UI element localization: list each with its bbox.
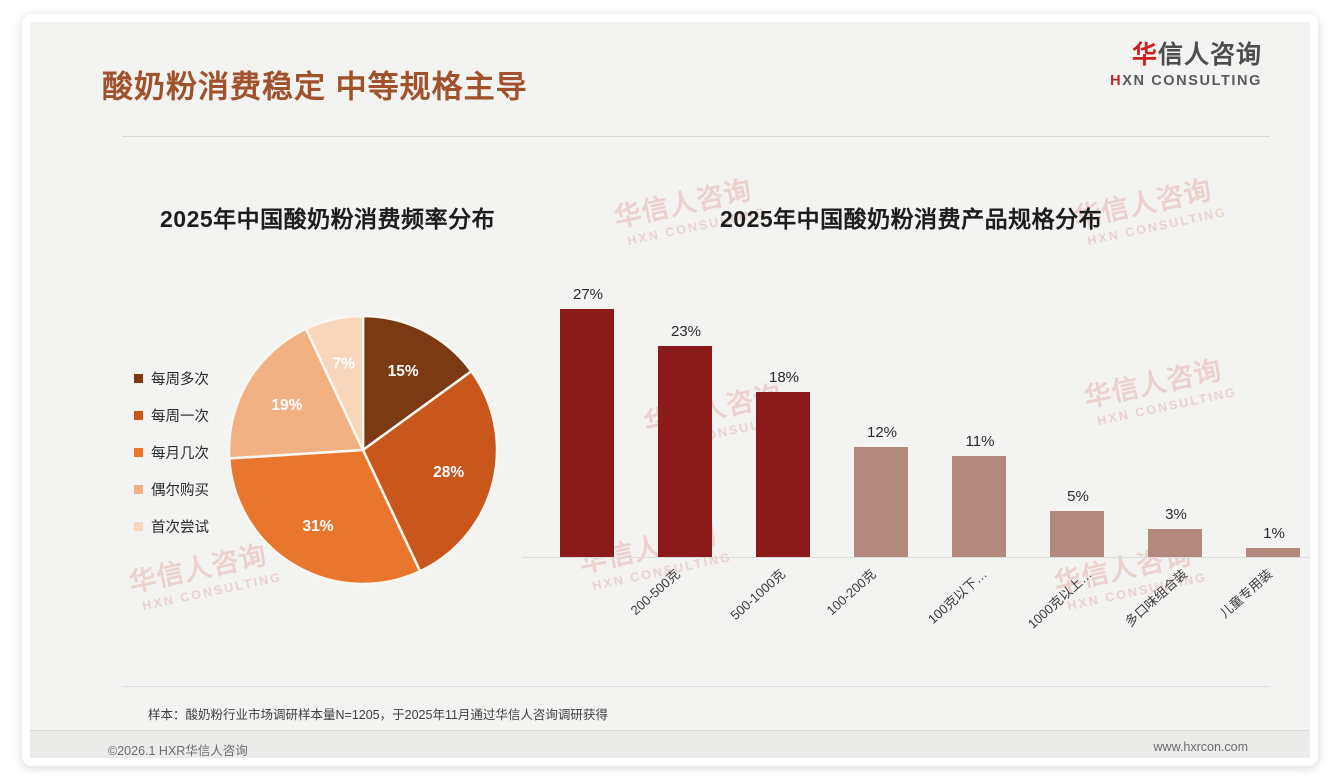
bar-value-label: 11% [932,433,1028,450]
pie-slice-value: 28% [433,464,464,481]
pie-legend-label: 每月几次 [151,442,209,463]
footer-copyright: ©2026.1 HXR华信人咨询 [108,740,248,758]
logo-hua-char: 华 [1132,41,1158,69]
pie-legend-label: 偶尔购买 [151,479,209,500]
logo-english-text: HXN CONSULTING [1110,73,1262,89]
pie-slice-value: 19% [271,397,302,414]
bar-rect[interactable] [854,447,908,557]
legend-swatch-icon [134,374,143,383]
pie-chart-title: 2025年中国酸奶粉消费频率分布 [160,200,495,234]
bar-rect[interactable] [952,456,1006,557]
logo-cn-rest: 信人咨询 [1158,41,1262,69]
bar-value-label: 1% [1226,525,1310,542]
bar-column[interactable]: 27% [540,289,636,557]
logo-h-char: H [1110,73,1122,89]
pie-legend-label: 首次尝试 [151,516,209,537]
legend-swatch-icon [134,522,143,531]
bar-value-label: 12% [834,424,930,441]
slide-header: 酸奶粉消费稳定 中等规格主导 华信人咨询 HXN CONSULTING [30,22,1310,134]
bar-value-label: 18% [736,369,832,386]
pie-slice-value: 31% [302,518,333,535]
sample-note: 样本：酸奶粉行业市场调研样本量N=1205，于2025年11月通过华信人咨询调研… [148,704,608,723]
bar-rect[interactable] [1050,511,1104,557]
pie-legend-label: 每周一次 [151,405,209,426]
slide-surface: 华信人咨询 HXN CONSULTING 华信人咨询 HXN CONSULTIN… [30,22,1310,758]
legend-swatch-icon [134,411,143,420]
pie-slice-value: 7% [333,356,356,373]
bar-category-label: 100-200克 [822,564,880,619]
pie-chart-svg: 15%28%31%19%7% [225,310,515,590]
bar-value-label: 23% [638,323,734,340]
bar-rect[interactable] [1246,548,1300,557]
bar-column[interactable]: 11% [932,289,1028,557]
bar-column[interactable]: 23% [638,289,734,557]
bar-category-label: 500-1000克 [725,564,788,624]
footer-website[interactable]: www.hxrcon.com [1154,740,1248,754]
company-logo: 华信人咨询 HXN CONSULTING [1110,42,1262,89]
page-title: 酸奶粉消费稳定 中等规格主导 [102,62,528,107]
bar-rect[interactable] [560,309,614,557]
bar-category-label: 1000克以上… [1023,564,1096,632]
bar-value-label: 3% [1128,506,1224,523]
legend-swatch-icon [134,448,143,457]
bar-rect[interactable] [1148,529,1202,557]
bar-chart: 27%200-500克23%500-1000克18%100-200克12%100… [522,272,1310,652]
bar-category-label: 200-500克 [626,564,684,619]
logo-chinese-text: 华信人咨询 [1110,42,1262,70]
bar-column[interactable]: 12% [834,289,930,557]
pie-slice-value: 15% [388,363,419,380]
bar-rect[interactable] [658,346,712,557]
bar-column[interactable]: 18% [736,289,832,557]
watermark-en: HXN CONSULTING [1086,205,1228,248]
pie-legend-label: 每周多次 [151,368,209,389]
bar-chart-axis-line [522,557,1310,558]
bar-category-label: 儿童专用装 [1215,564,1276,622]
header-divider [122,136,1270,137]
bar-rect[interactable] [756,392,810,557]
pie-chart: 每周多次每周一次每月几次偶尔购买首次尝试 15%28%31%19%7% [110,292,530,602]
bar-column[interactable]: 3% [1128,289,1224,557]
bar-category-label: 多口味组合装 [1120,564,1191,630]
footnote-divider [122,686,1270,687]
bar-value-label: 5% [1030,488,1126,505]
bar-chart-title: 2025年中国酸奶粉消费产品规格分布 [720,200,1102,234]
logo-en-rest: XN CONSULTING [1122,73,1262,89]
slide-frame: 华信人咨询 HXN CONSULTING 华信人咨询 HXN CONSULTIN… [22,14,1318,766]
bar-column[interactable]: 1% [1226,289,1310,557]
legend-swatch-icon [134,485,143,494]
bar-category-label: 100克以下… [923,564,990,627]
bar-column[interactable]: 5% [1030,289,1126,557]
bar-value-label: 27% [540,286,636,303]
